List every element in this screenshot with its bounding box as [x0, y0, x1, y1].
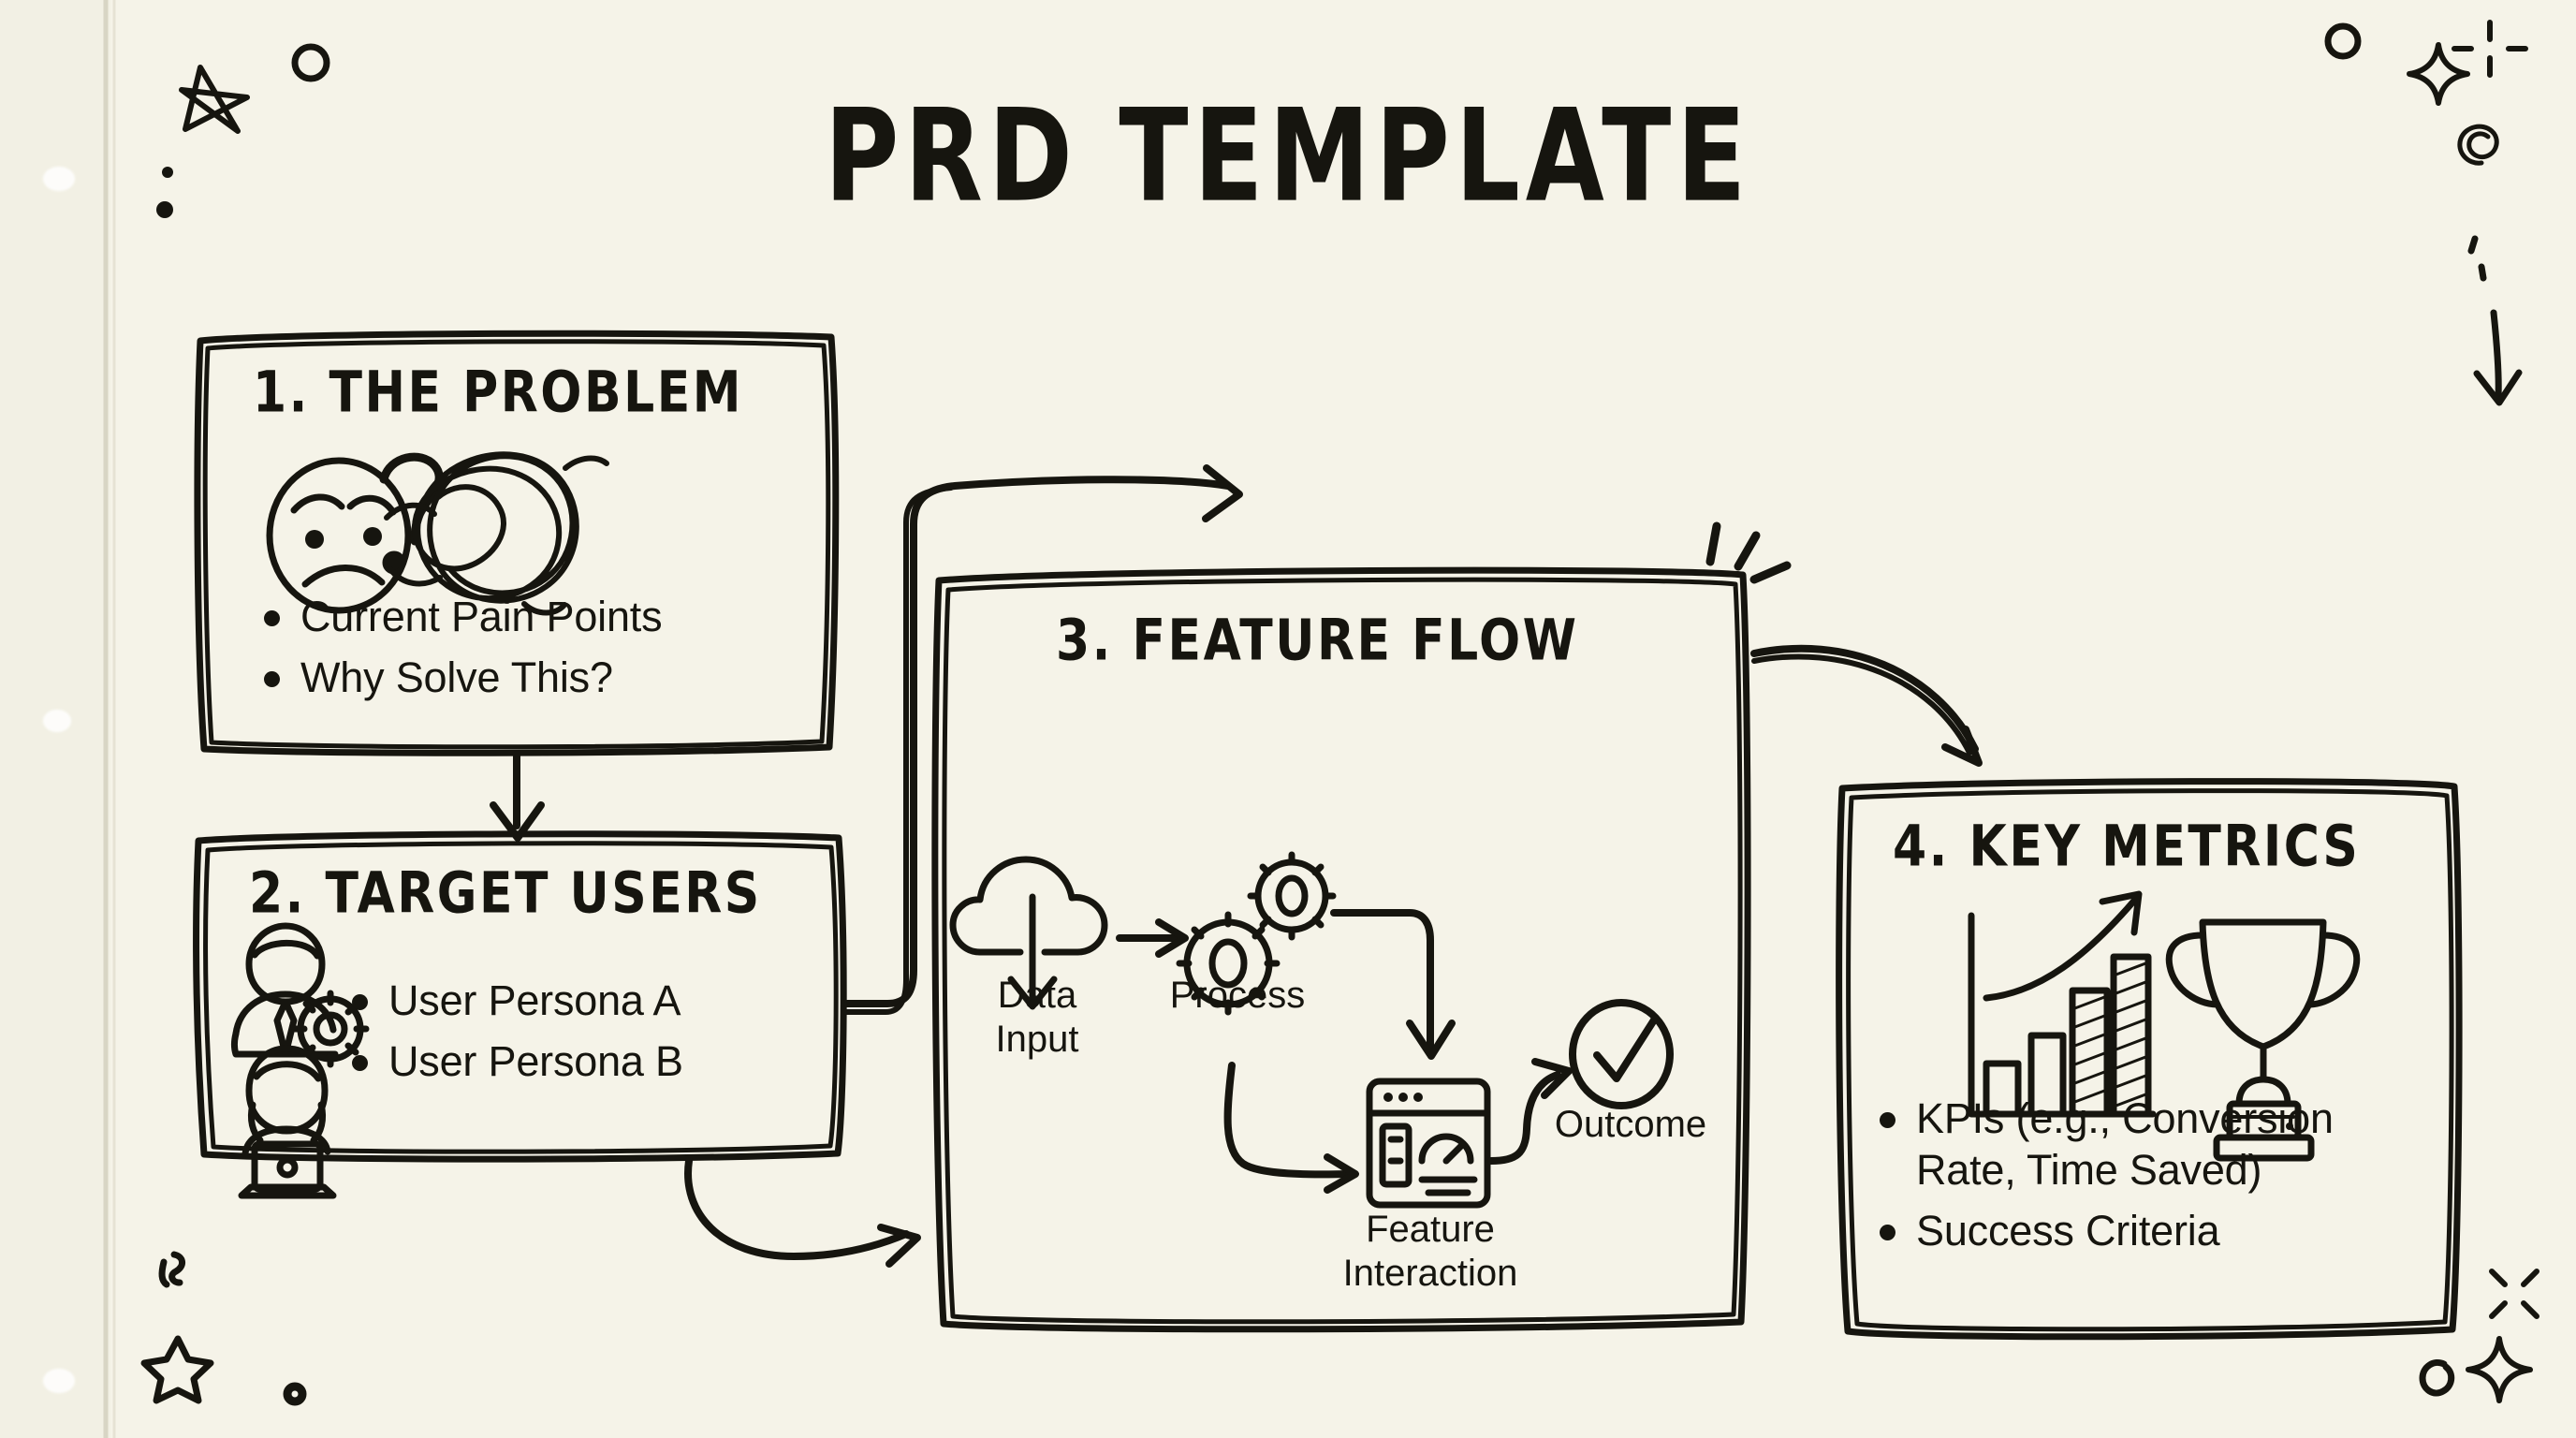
card-title-feature-flow: 3. FEATURE FLOW — [1056, 609, 1579, 674]
bullet-label: User Persona A — [388, 976, 681, 1027]
bullet-label: KPIs (e.g., Conversion — [1916, 1094, 2334, 1142]
card-title-target-users: 2. TARGET USERS — [249, 861, 762, 927]
flow-label-line: Input — [962, 1018, 1112, 1062]
target-users-to-feature-flow-side-arrow — [688, 1161, 917, 1264]
page-title: PRD TEMPLATE — [38, 82, 2537, 231]
feature-flow-to-key-metrics-arrow — [1754, 649, 1979, 763]
sparkle-doodle-bottom-right — [2468, 1339, 2530, 1401]
list-item: User Persona A — [352, 976, 683, 1027]
user-with-laptop-icon — [241, 1049, 333, 1196]
flow-label-data-input: Data Input — [962, 974, 1112, 1062]
target-users-to-feature-flow-top-arrow — [845, 468, 1239, 1012]
flow-label-line: Outcome — [1537, 1103, 1724, 1147]
problem-to-target-users-arrow — [493, 755, 541, 838]
bullet-dot-icon — [352, 1055, 368, 1071]
dot-doodle-bottom-left — [287, 1387, 302, 1401]
flow-label-line: Process — [1153, 974, 1322, 1018]
flow-label-outcome: Outcome — [1537, 1103, 1724, 1147]
list-item: Why Solve This? — [264, 653, 662, 704]
flow-label-process: Process — [1153, 974, 1322, 1018]
bullet-dot-icon — [1880, 1225, 1895, 1240]
bullet-dot-icon — [264, 610, 280, 626]
card-title-problem: 1. THE PROBLEM — [253, 360, 743, 426]
list-item: User Persona B — [352, 1036, 683, 1088]
flow-arrow-input-to-process — [1120, 922, 1185, 954]
scribble-tangle-icon — [387, 454, 607, 612]
circle-doodle-top-right — [2328, 26, 2358, 56]
bullet-list-problem: Current Pain Points Why Solve This? — [264, 592, 662, 713]
star-doodle-bottom-left — [144, 1339, 211, 1401]
bullet-dot-icon — [352, 994, 368, 1010]
bullet-label: Why Solve This? — [300, 653, 613, 704]
circle-doodle-top-left — [295, 47, 327, 79]
list-item: KPIs (e.g., Conversion Rate, Time Saved) — [1880, 1093, 2334, 1196]
flow-label-line: Data — [962, 974, 1112, 1018]
flow-arrow-process-label-to-feature — [1228, 1065, 1355, 1190]
card-title-key-metrics: 4. KEY METRICS — [1893, 814, 2360, 880]
cross-sparkle-doodle-top-right — [2454, 22, 2525, 75]
list-item: Success Criteria — [1880, 1206, 2334, 1257]
arrow-doodle-right — [2471, 239, 2519, 403]
bullet-list-target-users: User Persona A User Persona B — [352, 976, 683, 1097]
dashboard-window-icon — [1369, 1081, 1487, 1205]
bullet-label-cont: Rate, Time Saved) — [1916, 1146, 2261, 1194]
list-item: Current Pain Points — [264, 592, 662, 643]
flow-label-line: Feature — [1299, 1208, 1561, 1252]
bullet-dot-icon — [1880, 1112, 1895, 1128]
squiggle-doodle-bottom-left — [162, 1255, 183, 1284]
bullet-label: Current Pain Points — [300, 592, 662, 643]
flow-arrow-process-to-feature — [1334, 913, 1452, 1056]
x-sparkle-doodle-bottom-right — [2492, 1271, 2537, 1316]
notebook-page: PRD TEMPLATE 1. THE PROBLEM Current Pain… — [0, 0, 2576, 1438]
bullet-label: User Persona B — [388, 1036, 683, 1088]
bullet-list-key-metrics: KPIs (e.g., Conversion Rate, Time Saved)… — [1880, 1093, 2334, 1267]
bullet-dot-icon — [264, 671, 280, 687]
flow-label-line: Interaction — [1299, 1252, 1561, 1296]
sad-face-icon — [270, 461, 408, 610]
circle-doodle-bottom-right — [2422, 1362, 2452, 1393]
user-with-gear-icon — [235, 926, 367, 1064]
check-circle-icon — [1573, 1003, 1670, 1106]
growth-bar-chart-icon — [1971, 894, 2153, 1114]
flow-label-feature-interaction: Feature Interaction — [1299, 1208, 1561, 1296]
bullet-label: Success Criteria — [1916, 1206, 2219, 1257]
